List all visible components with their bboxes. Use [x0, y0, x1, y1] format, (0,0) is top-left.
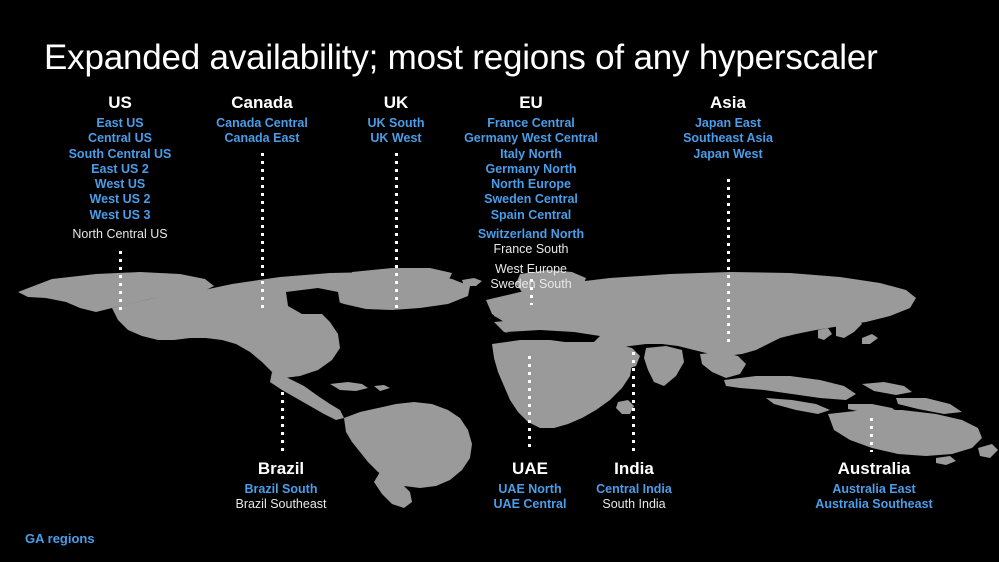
page-title: Expanded availability; most regions of a… — [44, 38, 964, 78]
slide-canvas: Expanded availability; most regions of a… — [0, 0, 999, 562]
region-label: West US 2 — [20, 192, 220, 207]
region-group-eu: EUFrance CentralGermany West CentralItal… — [430, 92, 632, 292]
region-label: Switzerland North — [430, 227, 632, 242]
region-label: South India — [554, 497, 714, 512]
region-label: Brazil Southeast — [201, 497, 361, 512]
region-group-title-asia: Asia — [648, 92, 808, 113]
region-group-title-brazil: Brazil — [201, 458, 361, 479]
region-group-brazil: BrazilBrazil SouthBrazil Southeast — [201, 458, 361, 513]
region-label: Germany West Central — [430, 131, 632, 146]
region-label: North Central US — [20, 227, 220, 242]
region-label: Brazil South — [201, 482, 361, 497]
region-group-australia: AustraliaAustralia EastAustralia Southea… — [794, 458, 954, 513]
region-label: Southeast Asia — [648, 131, 808, 146]
legend-ga-regions: GA regions — [25, 531, 95, 546]
leader-line-asia — [727, 179, 730, 342]
region-group-title-canada: Canada — [182, 92, 342, 113]
leader-line-uae — [528, 356, 531, 452]
region-label: Japan East — [648, 116, 808, 131]
region-group-asia: AsiaJapan EastSoutheast AsiaJapan West — [648, 92, 808, 162]
leader-line-brazil — [281, 392, 284, 452]
region-label: Spain Central — [430, 208, 632, 223]
region-label: South Central US — [20, 147, 220, 162]
region-label: West US 3 — [20, 208, 220, 223]
region-label: West US — [20, 177, 220, 192]
region-label: Australia East — [794, 482, 954, 497]
region-group-title-india: India — [554, 458, 714, 479]
region-label: Canada Central — [182, 116, 342, 131]
leader-line-canada — [261, 153, 264, 310]
leader-line-us — [119, 251, 122, 310]
leader-line-india — [632, 352, 635, 452]
region-label: France Central — [430, 116, 632, 131]
region-group-title-australia: Australia — [794, 458, 954, 479]
region-label: North Europe — [430, 177, 632, 192]
region-label: Sweden South — [430, 277, 632, 292]
region-label: Canada East — [182, 131, 342, 146]
region-label: Italy North — [430, 147, 632, 162]
region-label: France South — [430, 242, 632, 257]
region-label: West Europe — [430, 262, 632, 277]
region-label: Germany North — [430, 162, 632, 177]
region-label: Japan West — [648, 147, 808, 162]
region-group-title-eu: EU — [430, 92, 632, 113]
leader-line-uk — [395, 153, 398, 308]
region-label: Sweden Central — [430, 192, 632, 207]
region-label: East US 2 — [20, 162, 220, 177]
region-group-canada: CanadaCanada CentralCanada East — [182, 92, 342, 147]
region-label: Australia Southeast — [794, 497, 954, 512]
region-label: Central India — [554, 482, 714, 497]
leader-line-australia — [870, 418, 873, 452]
region-group-india: IndiaCentral IndiaSouth India — [554, 458, 714, 513]
